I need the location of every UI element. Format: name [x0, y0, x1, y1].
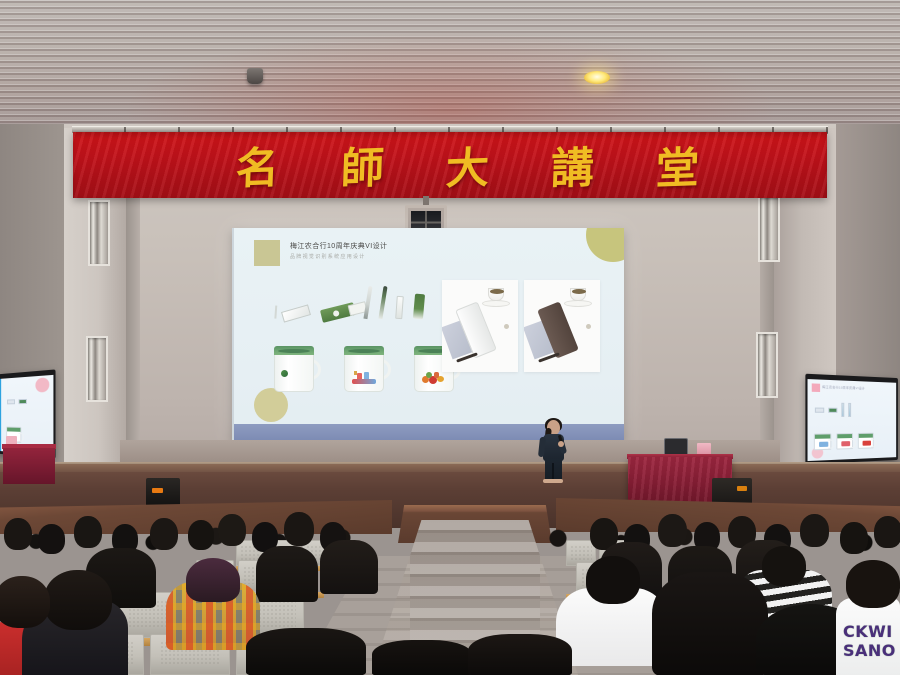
tshirt-student-head	[846, 560, 900, 608]
striped-student-head	[762, 546, 806, 586]
audience-head	[150, 518, 178, 550]
audience-head	[74, 516, 102, 548]
white-tee-student-head	[586, 556, 640, 604]
foreground-student-head	[44, 570, 112, 630]
audience-long-hair	[256, 546, 318, 602]
tshirt-text: CKWI SANO	[843, 622, 900, 660]
audience-head	[4, 518, 32, 550]
foreground-student	[372, 640, 472, 675]
plaid-student-head	[186, 558, 240, 602]
audience: CKWI SANO	[0, 0, 900, 675]
audience-head	[284, 512, 314, 546]
foreground-student	[246, 628, 366, 675]
audience-long-hair	[320, 540, 378, 594]
audience-head	[658, 514, 687, 547]
tshirt-text-line-1: CKWI	[843, 622, 900, 641]
tshirt-text-line-2: SANO	[843, 641, 900, 660]
audience-head	[840, 522, 868, 554]
auditorium-photo: 名 師 大 講 堂 梅江农合行10周年庆典VI设计 品牌视觉识别系统应用设计	[0, 0, 900, 675]
audience-head	[800, 514, 829, 547]
foreground-student-head	[0, 576, 50, 628]
foreground-student	[468, 634, 572, 675]
audience-head	[38, 524, 65, 554]
foreground-long-hair-student	[652, 572, 768, 675]
audience-head	[874, 516, 900, 548]
audience-head	[218, 514, 246, 546]
audience-head	[188, 520, 214, 550]
